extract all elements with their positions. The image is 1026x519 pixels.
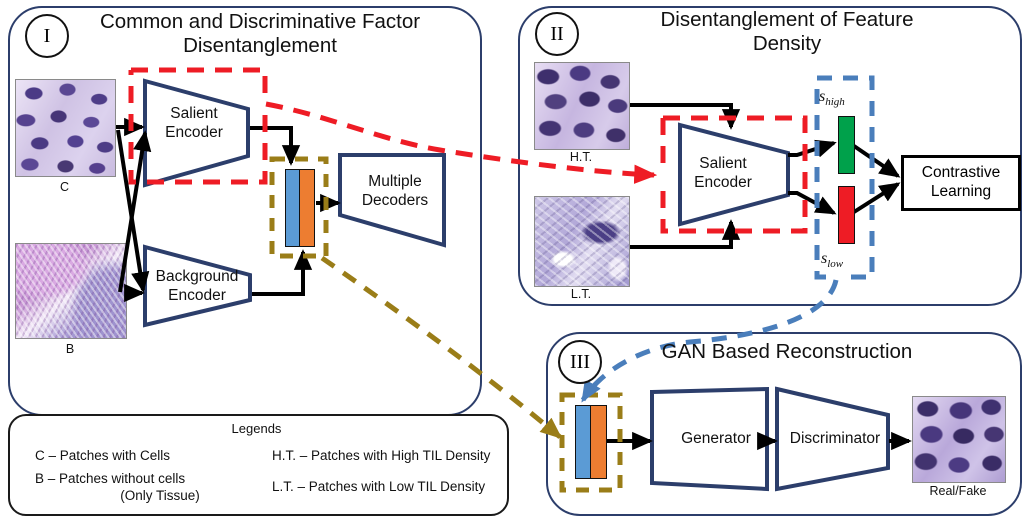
s-high-label: shigh [819,88,845,108]
olive-dashed-box-panel-iii [562,395,620,490]
patch-low-til-label: L.T. [534,287,628,301]
patch-background-label: B [15,342,125,356]
panel-i-badge: I [25,14,69,58]
s-low-sub: low [827,258,843,270]
patch-reconstruction-label: Real/Fake [908,484,1008,498]
olive-dashed-box-panel-i [272,159,326,256]
s-low-label: slow [821,250,843,270]
panel-iii-badge: III [558,340,602,384]
discriminator-label: Discriminator [780,430,890,449]
patch-high-til-label: H.T. [534,150,628,164]
generator-line1: Generator [666,430,766,449]
salient-encoder-1-label: Salient Encoder [144,105,244,142]
panel-i-title-line2: Disentanglement [60,34,460,58]
generator-label: Generator [666,430,766,449]
discriminator-line1: Discriminator [780,430,890,449]
multiple-decoders-line1: Multiple [345,173,445,192]
diagram-canvas: I Common and Discriminative Factor Disen… [0,0,1026,519]
panel-i-title-line1: Common and Discriminative Factor [60,10,460,34]
salient-encoder-1-line1: Salient [144,105,244,124]
panel-iii-title: GAN Based Reconstruction [612,340,962,364]
panel-ii-badge: II [535,12,579,56]
panel-i-roman: I [44,26,51,46]
multiple-decoders-line2: Decoders [345,192,445,211]
background-encoder-line1: Background [142,268,252,287]
panel-ii-title-line1: Disentanglement of Feature [582,8,992,32]
panel-ii-title: Disentanglement of Feature Density [582,8,992,56]
salient-encoder-1-line2: Encoder [144,124,244,143]
salient-encoder-2-line1: Salient [673,155,773,174]
panel-iii-roman: III [570,352,590,372]
s-high-sub: high [825,96,845,108]
panel-i-title: Common and Discriminative Factor Disenta… [60,10,460,58]
panel-ii-title-line2: Density [582,32,992,56]
red-dashed-link-i-to-ii [266,104,654,175]
background-encoder-label: Background Encoder [142,268,252,305]
multiple-decoders-label: Multiple Decoders [345,173,445,210]
panel-iii-title-line1: GAN Based Reconstruction [612,340,962,364]
olive-dashed-link-i-to-iii [322,258,560,437]
salient-encoder-2-label: Salient Encoder [673,155,773,192]
background-encoder-line2: Encoder [142,287,252,306]
salient-encoder-2-line2: Encoder [673,174,773,193]
patch-cells-label: C [15,180,114,194]
panel-ii-roman: II [550,24,563,44]
